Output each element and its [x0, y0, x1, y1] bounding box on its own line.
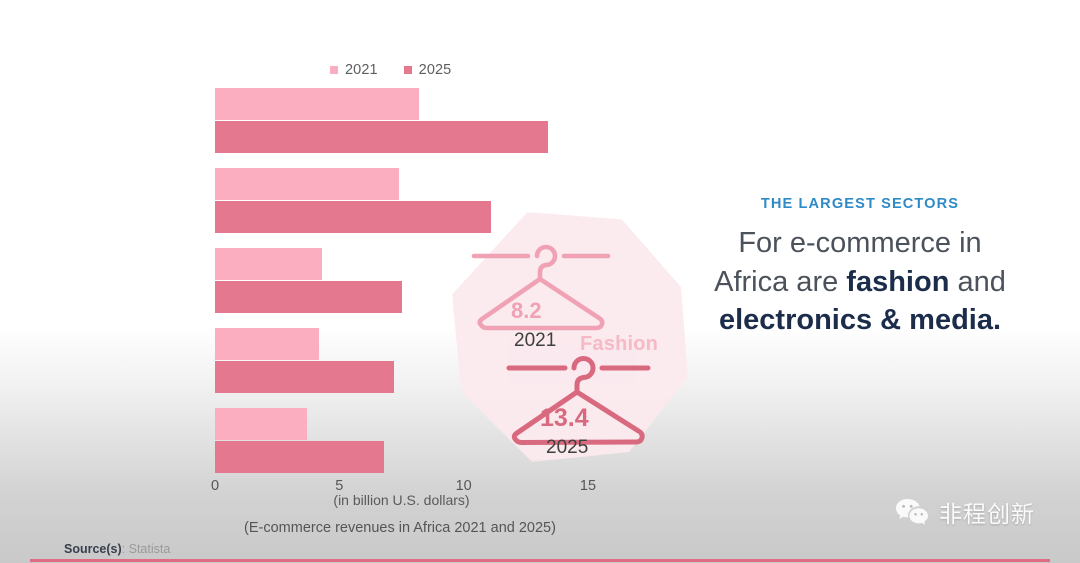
- bar-2025: [215, 441, 384, 473]
- bar-group: Fashion: [215, 88, 588, 153]
- callout-panel: THE LARGEST SECTORS For e-commerce in Af…: [660, 196, 1060, 340]
- headline-line3-bold: electronics & media.: [719, 304, 1001, 336]
- sector-word-label: Fashion: [580, 333, 658, 356]
- source-label: Source(s): [64, 542, 122, 556]
- headline-line1: For e-commerce in: [738, 227, 981, 259]
- hanger-value-2025: 13.4: [540, 404, 589, 433]
- source-line: Source(s): Statista: [64, 542, 170, 556]
- legend-item-2021: 2021: [330, 62, 378, 78]
- bar-2021: [215, 88, 419, 120]
- bar-2025: [215, 201, 491, 233]
- bar-2025: [215, 281, 402, 313]
- watermark: 非程创新: [895, 495, 1035, 529]
- callout-headline: For e-commerce in Africa are fashion and…: [660, 224, 1060, 340]
- headline-line2-suffix: and: [949, 266, 1005, 298]
- hanger-value-2021: 8.2: [511, 298, 542, 324]
- bar-2025: [215, 121, 548, 153]
- hanger-icon-2021: [468, 243, 618, 335]
- axis-unit-note: (in billion U.S. dollars): [215, 492, 588, 508]
- watermark-text: 非程创新: [939, 495, 1035, 529]
- bar-2025: [215, 361, 394, 393]
- hanger-year-2025: 2025: [546, 437, 588, 459]
- bar-2021: [215, 168, 399, 200]
- legend-item-2025: 2025: [404, 62, 452, 78]
- footer-rule: [30, 559, 1050, 562]
- chart-legend: 2021 2025: [330, 62, 451, 78]
- headline-line2-prefix: Africa are: [714, 266, 846, 298]
- callout-kicker: THE LARGEST SECTORS: [660, 196, 1060, 212]
- legend-swatch-2021: [330, 66, 338, 74]
- bar-2021: [215, 408, 307, 440]
- hanger-year-2021: 2021: [514, 330, 556, 352]
- wechat-icon: [895, 498, 929, 527]
- legend-swatch-2025: [404, 66, 412, 74]
- hanger-icon-2025: [503, 354, 658, 450]
- headline-line2-bold: fashion: [846, 266, 949, 298]
- bar-2021: [215, 248, 322, 280]
- source-separator: :: [122, 542, 129, 556]
- bar-2021: [215, 328, 319, 360]
- legend-label-2021: 2021: [345, 62, 378, 78]
- legend-label-2025: 2025: [419, 62, 452, 78]
- slide-canvas: 2021 2025 FashionElectronics & mediaToys…: [0, 0, 1080, 563]
- chart-subtitle: (E-commerce revenues in Africa 2021 and …: [150, 520, 650, 536]
- source-value: Statista: [129, 542, 171, 556]
